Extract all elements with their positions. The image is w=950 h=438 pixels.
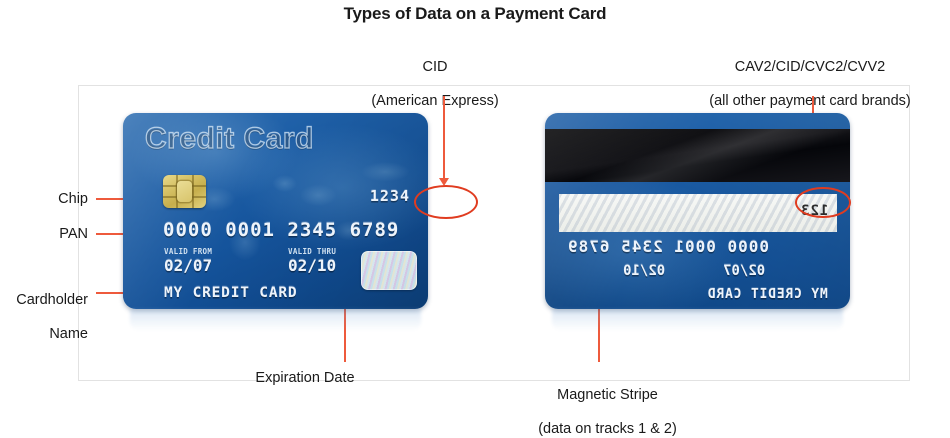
label-cav2: CAV2/CID/CVC2/CVV2 (all other payment ca… (672, 42, 948, 110)
valid-from-value: 02/07 (164, 256, 212, 275)
label-magnetic-stripe-title: Magnetic Stripe (557, 387, 658, 403)
card-back-valid-thru-value: 02/10 (623, 263, 665, 279)
card-front-reflection (130, 309, 421, 331)
leader-line-pan (96, 233, 124, 235)
label-cav2-title: CAV2/CID/CVC2/CVV2 (735, 59, 885, 75)
label-magnetic-stripe: Magnetic Stripe (data on tracks 1 & 2) (505, 370, 710, 438)
label-expiration-date: Expiration Date (210, 370, 400, 387)
page-title: Types of Data on a Payment Card (0, 4, 950, 24)
valid-thru-label: VALID THRU (288, 247, 336, 256)
cardholder-name-value: MY CREDIT CARD (164, 285, 297, 301)
cid-highlight-ellipse (414, 185, 478, 219)
leader-line-cid (443, 96, 445, 178)
label-cav2-subtitle: (all other payment card brands) (709, 93, 911, 109)
leader-line-chip (96, 198, 124, 200)
cid-code-value: 1234 (370, 187, 410, 205)
card-back-cardholder-name-value: MY CREDIT CARD (707, 287, 828, 302)
valid-from-label: VALID FROM (164, 247, 212, 256)
label-chip: Chip (0, 191, 88, 208)
label-cid-subtitle: (American Express) (371, 93, 498, 109)
leader-line-cardholder (96, 292, 124, 294)
card-pan-number: 0000 0001 2345 6789 (163, 219, 399, 241)
card-back-pan-number: 0000 0001 2345 6789 (567, 237, 769, 256)
label-cid: CID (American Express) (355, 42, 515, 110)
label-cardholder-name: Cardholder Name (0, 275, 88, 343)
emv-chip-icon (163, 175, 206, 208)
valid-thru-value: 02/10 (288, 256, 336, 275)
label-pan: PAN (0, 226, 88, 243)
cvv-highlight-ellipse (795, 187, 851, 218)
card-wordmark: Credit Card (145, 122, 314, 156)
label-magnetic-stripe-subtitle: (data on tracks 1 & 2) (538, 421, 677, 437)
label-cardholder-line1: Cardholder (16, 292, 88, 308)
hologram-icon (361, 251, 417, 290)
card-back-reflection (552, 309, 843, 331)
magnetic-stripe (545, 129, 850, 182)
label-cardholder-line2: Name (49, 326, 88, 342)
label-cid-title: CID (423, 59, 448, 75)
card-back-valid-from-value: 02/07 (723, 263, 765, 279)
payment-card-front: Credit Card 0000 0001 2345 6789 VALID FR… (123, 113, 428, 309)
